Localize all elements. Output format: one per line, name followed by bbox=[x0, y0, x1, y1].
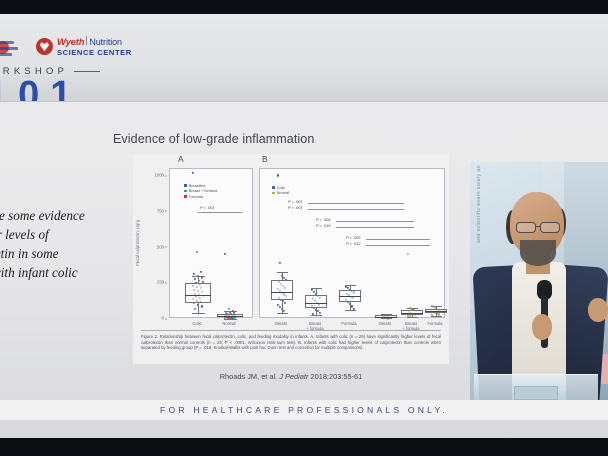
p-value-bracket bbox=[366, 245, 430, 246]
citation-journal: J Pediatr bbox=[279, 372, 308, 381]
data-point bbox=[224, 253, 226, 255]
letterbox-top bbox=[0, 0, 608, 14]
speaker-beard bbox=[520, 240, 556, 266]
brand-science-center: SCIENCE CENTER bbox=[57, 49, 132, 57]
y-axis-label: Fecal calprotectin, µg/g bbox=[135, 220, 145, 266]
data-point bbox=[200, 271, 202, 273]
panel-a-letter: A bbox=[178, 154, 184, 164]
x-tick-label: Breast bbox=[379, 321, 391, 326]
y-axis-ticks: 02505007501000 bbox=[145, 168, 167, 318]
workshop-rule bbox=[74, 71, 100, 73]
data-point bbox=[201, 305, 203, 307]
legend-swatch bbox=[272, 192, 275, 195]
p-value-annotation: P = .004 bbox=[316, 217, 330, 222]
figure-divider bbox=[141, 330, 441, 331]
p-value-bracket bbox=[336, 227, 414, 228]
speaker-video-inset[interactable]: and scientific event solely an bbox=[470, 162, 608, 402]
chart-panel-b: ColicNormalP < .001P < .001P = .004P = .… bbox=[259, 168, 445, 318]
data-point bbox=[196, 251, 198, 253]
brand-nutrition-word: Nutrition bbox=[89, 38, 122, 47]
podium-plate bbox=[514, 386, 558, 400]
quote-line-2: igher levels of bbox=[0, 225, 134, 244]
quote-line-1: re are some evidence bbox=[0, 206, 134, 225]
pull-quote: re are some evidence igher levels of rot… bbox=[0, 206, 134, 282]
y-tick-label: 250 bbox=[157, 280, 164, 285]
p-value-bracket bbox=[308, 209, 404, 210]
y-tick-label: 750 bbox=[157, 208, 164, 213]
quote-line-4: ies with infant colic bbox=[0, 263, 134, 282]
legend-swatch bbox=[184, 190, 187, 193]
quote-line-3: rotectin in some bbox=[0, 244, 134, 263]
p-value-bracket bbox=[308, 203, 404, 204]
slide-header-band: Wyeth Nutrition SCIENCE CENTER WORKSHOP … bbox=[0, 14, 608, 102]
citation-detail: 2018;203:55-61 bbox=[308, 372, 362, 381]
workshop-number: 101 bbox=[0, 76, 82, 102]
speaker-hand-left bbox=[532, 314, 552, 340]
wyeth-nutrition-logo: Wyeth Nutrition SCIENCE CENTER bbox=[36, 36, 132, 57]
presentation-slide: Wyeth Nutrition SCIENCE CENTER WORKSHOP … bbox=[0, 14, 608, 438]
x-tick-label: Breast bbox=[275, 321, 287, 326]
p-value-annotation: P = .002 bbox=[346, 235, 360, 240]
chart-legend: ColicNormal bbox=[272, 185, 289, 196]
figure-charts: Fecal calprotectin, µg/g 02505007501000 … bbox=[133, 168, 449, 326]
data-point bbox=[194, 278, 196, 280]
wyeth-seal-icon bbox=[36, 38, 53, 55]
legend-swatch bbox=[184, 195, 187, 198]
chart-legend: BreastfedBreast + formulaFormula bbox=[184, 183, 217, 199]
p-value-bracket bbox=[366, 239, 430, 240]
x-tick-label: Colic bbox=[192, 321, 201, 326]
p-value-annotation: P < .001 bbox=[288, 199, 302, 204]
chart-panel-a: BreastfedBreast + formulaFormulaP < .001 bbox=[169, 168, 253, 318]
data-point bbox=[194, 308, 196, 310]
video-player-stage: Wyeth Nutrition SCIENCE CENTER WORKSHOP … bbox=[0, 0, 608, 456]
citation: Rhoads JM, et al. J Pediatr 2018;203:55-… bbox=[133, 372, 449, 381]
citation-author: Rhoads JM, et al. bbox=[220, 372, 280, 381]
data-point bbox=[192, 172, 194, 174]
data-point bbox=[284, 302, 286, 304]
y-tick-label: 500 bbox=[157, 244, 164, 249]
legend-label: Formula bbox=[189, 194, 203, 199]
speaker-glasses-left bbox=[516, 222, 536, 233]
data-point bbox=[279, 262, 281, 264]
speaker-hand-right bbox=[588, 298, 608, 322]
legend-label: Normal bbox=[277, 190, 290, 195]
speaker-glasses-bridge bbox=[536, 226, 541, 227]
p-value-bracket bbox=[336, 221, 414, 222]
backdrop-text: and scientific event solely an bbox=[476, 165, 482, 243]
speaker-glasses-right bbox=[540, 222, 560, 233]
partial-institute-logo-icon bbox=[0, 40, 22, 62]
letterbox-bottom bbox=[0, 438, 608, 456]
x-tick-label: Formula bbox=[341, 321, 356, 326]
p-value-annotation: P = .019 bbox=[316, 223, 330, 228]
x-axis-labels: ColicNormalBreastBreast+ formulaFormulaB… bbox=[133, 318, 449, 334]
page-title: Evidence of low-grade inflammation bbox=[113, 132, 314, 146]
data-point bbox=[193, 273, 195, 275]
p-value-bracket bbox=[198, 212, 242, 213]
data-point bbox=[407, 253, 409, 255]
p-value-annotation: P < .001 bbox=[200, 205, 214, 210]
brand-wyeth-word: Wyeth bbox=[57, 38, 84, 48]
x-tick-label: Formula bbox=[427, 321, 442, 326]
figure-caption: Figure 2. Relationship between fecal cal… bbox=[141, 334, 441, 351]
p-value-annotation: P < .001 bbox=[288, 205, 302, 210]
y-tick-label: 1000 bbox=[155, 173, 164, 178]
legend-swatch bbox=[272, 186, 275, 189]
brand-divider bbox=[86, 36, 87, 45]
legend-swatch bbox=[184, 184, 187, 187]
x-tick-label: Normal bbox=[222, 321, 235, 326]
legend-item: Normal bbox=[272, 190, 289, 195]
data-point bbox=[277, 174, 279, 176]
hcp-disclaimer-banner: FOR HEALTHCARE PROFESSIONALS ONLY. bbox=[0, 400, 608, 420]
p-value-annotation: P = .012 bbox=[346, 241, 360, 246]
figure-card: A B Fecal calprotectin, µg/g 02505007501… bbox=[133, 154, 449, 364]
panel-b-letter: B bbox=[262, 154, 268, 164]
panel-letters: A B bbox=[133, 154, 449, 168]
legend-item: Formula bbox=[184, 194, 217, 199]
hcp-disclaimer-text: FOR HEALTHCARE PROFESSIONALS ONLY. bbox=[160, 405, 448, 415]
data-point bbox=[228, 308, 230, 310]
